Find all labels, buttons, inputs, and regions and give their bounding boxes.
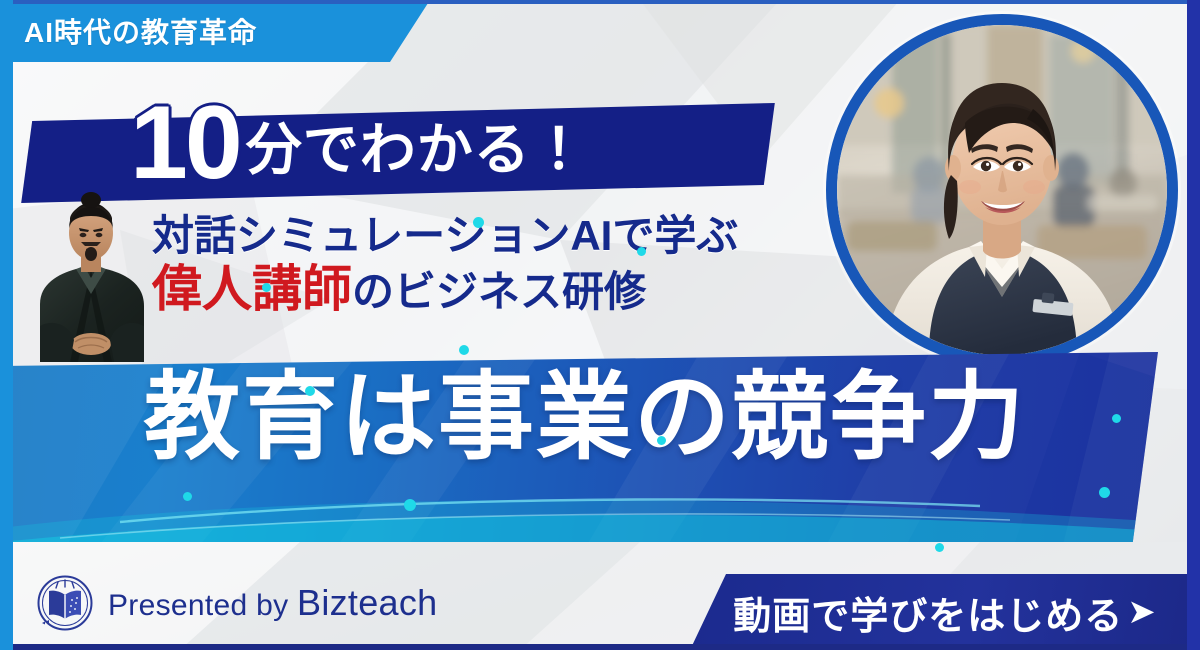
main-headline: 教育は事業の競争力 [0,368,1170,469]
hero-number: 10 [130,96,240,192]
frame-bottom-edge [0,644,1200,650]
open-book-circle-logo [36,574,94,632]
hero-number-suffix: 分でわかる！ [246,122,588,192]
portrait-photo-circle [826,14,1178,366]
accent-dot-12 [935,543,944,552]
top-badge: AI時代の教育革命 [0,0,430,62]
accent-dot-9 [657,436,666,445]
accent-dot-10 [1112,414,1121,423]
hero-subheadline-rest: のビジネス研修 [352,268,646,315]
hero-subheadline-block: 対話シミュレーションAIで学ぶ 偉人講師のビジネス研修 [152,212,738,317]
hero-subheadline-line2: 偉人講師のビジネス研修 [152,261,738,317]
accent-dot-11 [1099,487,1110,498]
cta-label-group: 動画で学びをはじめる ➤ [733,585,1157,640]
brand-lockup: Presented by Bizteach [36,574,438,632]
cta-label: 動画で学びをはじめる [733,585,1123,640]
accent-dot-8 [404,499,416,511]
frame-right-edge [1187,0,1200,650]
brand-prefix: Presented by [108,589,297,622]
accent-dot-2 [637,247,646,256]
accent-dot-7 [183,492,192,501]
frame-left-edge [0,0,13,650]
brand-text: Presented by Bizteach [108,582,438,624]
arrow-right-icon: ➤ [1127,595,1157,629]
promotional-banner: AI時代の教育革命 10 分でわかる！ 対話シミュレーションAIで学ぶ 偉人講師… [0,0,1200,650]
accent-dot-4 [459,345,469,355]
hero-subheadline-line1: 対話シミュレーションAIで学ぶ [152,212,738,259]
portrait-photo-inner [837,25,1167,355]
accent-dot-6 [305,386,315,396]
accent-dot-1 [473,217,484,228]
hero-headline-10: 10 分でわかる！ [130,96,588,192]
hero-subheadline-highlight: 偉人講師 [152,261,352,317]
frame-top-edge [0,0,1200,4]
brand-name: Bizteach [297,582,437,623]
cta-button[interactable]: 動画で学びをはじめる ➤ [690,574,1200,650]
top-badge-label: AI時代の教育革命 [24,11,257,51]
accent-dot-3 [262,283,271,292]
historical-figure-photo [18,186,164,362]
